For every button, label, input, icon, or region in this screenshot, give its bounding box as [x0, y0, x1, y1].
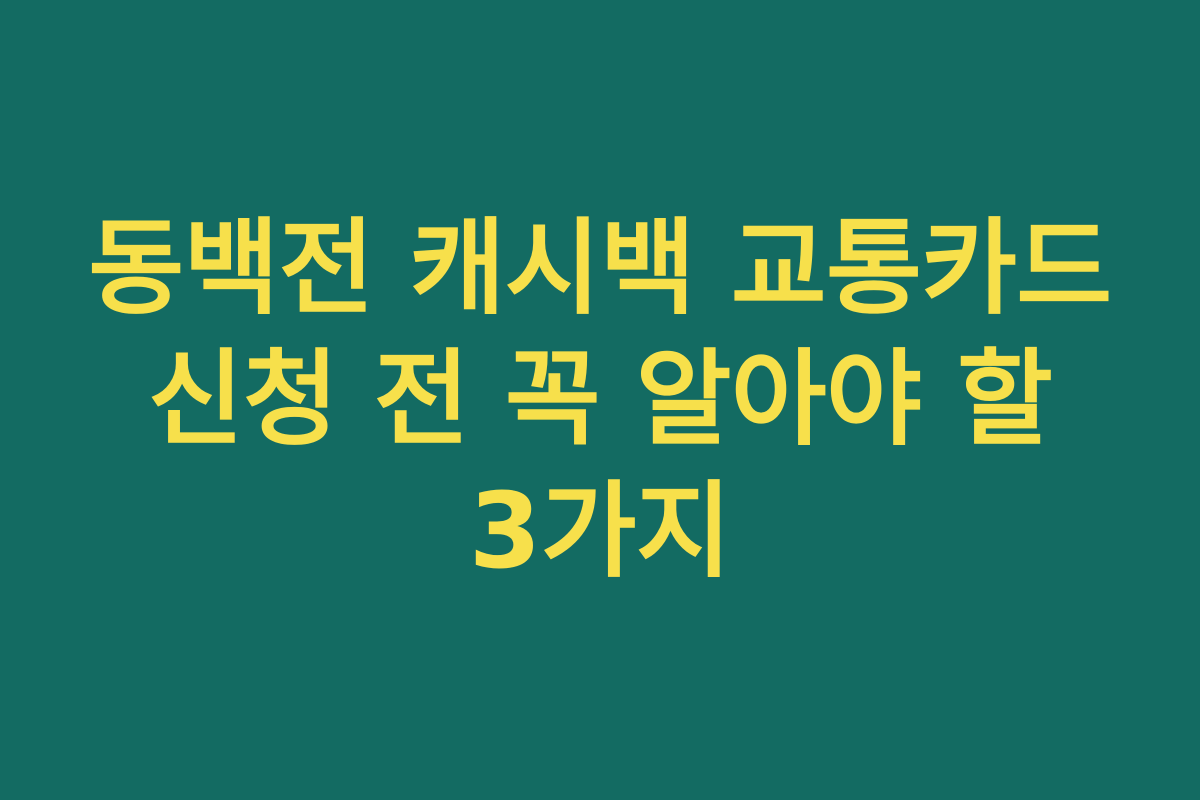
- banner-container: 동백전 캐시백 교통카드 신청 전 꼭 알아야 할 3가지: [0, 0, 1200, 800]
- headline-text: 동백전 캐시백 교통카드 신청 전 꼭 알아야 할 3가지: [60, 203, 1140, 596]
